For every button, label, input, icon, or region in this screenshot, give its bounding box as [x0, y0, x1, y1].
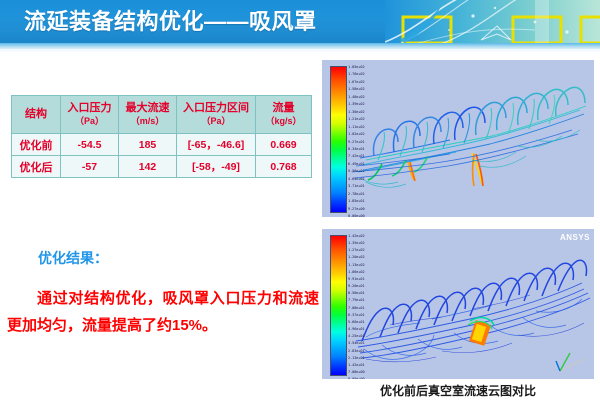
column-label: 流量 [273, 102, 295, 114]
colorbar-tick-label: 1.42e+02 [348, 233, 365, 240]
slide-header-banner: 流延装备结构优化——吸风罩 [0, 0, 600, 43]
axis-triad-icon [554, 349, 588, 375]
column-label: 入口压力区间 [183, 102, 249, 114]
cell-structure: 优化后 [12, 156, 61, 178]
colorbar-tick-label: 6.37e+01 [348, 312, 365, 319]
cfd-figure-before: 1.85e+021.76e+021.67e+021.58e+021.48e+02… [322, 60, 594, 217]
column-header-structure: 结构 [12, 96, 61, 134]
colorbar-tick-label: 2.13e+01 [348, 355, 365, 362]
table-row: 优化后 -57 142 [-58，-49] 0.768 [12, 156, 312, 178]
colorbar-tick-label: 5.66e+01 [348, 319, 365, 326]
header-underline-soft [0, 49, 600, 53]
colorbar-tick-label: 1.35e+02 [348, 240, 365, 247]
colorbar-tick-label: 1.85e+02 [348, 64, 365, 71]
cell-pressure-range: [-58，-49] [177, 156, 256, 178]
colorbar-tick-label: 7.42e+01 [348, 153, 365, 160]
column-unit: （Pa） [177, 115, 255, 127]
colorbar-tick-label: 1.42e+01 [348, 362, 365, 369]
table-header-row: 结构 入口压力 （Pa） 最大流速 （m/s） 入口压力区间 （Pa） 流量 （… [12, 96, 312, 134]
cell-max-velocity: 142 [119, 156, 177, 178]
results-table: 结构 入口压力 （Pa） 最大流速 （m/s） 入口压力区间 （Pa） 流量 （… [11, 95, 312, 178]
colorbar-tick-label: 2.78e+01 [348, 191, 365, 198]
colorbar-tick-label: 7.79e+01 [348, 297, 365, 304]
colorbar-tick-label: 1.13e+02 [348, 262, 365, 269]
colorbar-tick-label: 0.00e+00 [348, 376, 365, 379]
colorbar-tick-label: 8.34e+01 [348, 146, 365, 153]
colorbar-tick-label: 9.20e+01 [348, 283, 365, 290]
colorbar-tick-label: 7.08e+01 [348, 305, 365, 312]
colorbar-tick-label: 2.83e+01 [348, 348, 365, 355]
column-header-inlet-pressure: 入口压力 （Pa） [61, 96, 119, 134]
colorbar-tick-label: 1.67e+02 [348, 79, 365, 86]
column-header-flow-rate: 流量 （kg/s） [256, 96, 312, 134]
colorbar-tick-label: 9.27e+00 [348, 206, 365, 213]
result-paragraph: 通过对结构优化，吸风罩入口压力和流速更加均匀，流量提高了约15%。 [7, 285, 319, 339]
page-title: 流延装备结构优化——吸风罩 [24, 7, 317, 36]
column-label: 最大流速 [126, 102, 170, 114]
cell-pressure-range: [-65，-46.6] [177, 134, 256, 156]
colorbar-tick-label: 1.76e+02 [348, 71, 365, 78]
cell-flow-rate: 0.669 [256, 134, 312, 156]
column-header-max-velocity: 最大流速 （m/s） [119, 96, 177, 134]
colorbar-tick-label: 1.21e+02 [348, 116, 365, 123]
colorbar-after [330, 235, 347, 376]
cell-inlet-pressure: -57 [61, 156, 119, 178]
colorbar-tick-label: 4.64e+01 [348, 176, 365, 183]
column-unit: （kg/s） [256, 115, 311, 127]
colorbar-tick-label: 0.00e+00 [348, 213, 365, 217]
cell-flow-rate: 0.768 [256, 156, 312, 178]
cell-structure: 优化前 [12, 134, 61, 156]
colorbar-labels-before: 1.85e+021.76e+021.67e+021.58e+021.48e+02… [348, 64, 365, 217]
colorbar-tick-label: 1.02e+02 [348, 131, 365, 138]
colorbar-tick-label: 1.58e+02 [348, 86, 365, 93]
colorbar-tick-label: 3.54e+01 [348, 340, 365, 347]
colorbar-tick-label: 3.71e+01 [348, 183, 365, 190]
colorbar-tick-label: 4.25e+01 [348, 333, 365, 340]
table-row: 优化前 -54.5 185 [-65，-46.6] 0.669 [12, 134, 312, 156]
colorbar-tick-label: 1.85e+01 [348, 198, 365, 205]
ansys-watermark: ANSYS [560, 233, 590, 242]
cfd-figure-after: 1.42e+021.35e+021.27e+021.20e+021.13e+02… [322, 229, 594, 379]
column-label: 结构 [25, 108, 47, 120]
colorbar-labels-after: 1.42e+021.35e+021.27e+021.20e+021.13e+02… [348, 233, 365, 379]
colorbar-tick-label: 1.48e+02 [348, 94, 365, 101]
cell-inlet-pressure: -54.5 [61, 134, 119, 156]
colorbar-tick-label: 1.30e+02 [348, 109, 365, 116]
colorbar-tick-label: 1.11e+02 [348, 124, 365, 131]
colorbar-tick-label: 7.08e+00 [348, 369, 365, 376]
header-decoration [385, 0, 600, 43]
colorbar-tick-label: 1.27e+02 [348, 247, 365, 254]
colorbar-tick-label: 8.50e+01 [348, 290, 365, 297]
figure-caption: 优化前后真空室流速云图对比 [322, 383, 594, 399]
colorbar-tick-label: 1.20e+02 [348, 254, 365, 261]
colorbar-tick-label: 6.49e+01 [348, 161, 365, 168]
column-unit: （m/s） [119, 115, 176, 127]
result-heading: 优化结果： [38, 249, 108, 267]
colorbar-tick-label: 1.06e+02 [348, 269, 365, 276]
colorbar-tick-label: 9.27e+01 [348, 139, 365, 146]
colorbar-tick-label: 1.39e+02 [348, 101, 365, 108]
colorbar-before [330, 66, 347, 213]
column-label: 入口压力 [68, 102, 112, 114]
column-unit: （Pa） [61, 115, 118, 127]
colorbar-tick-label: 5.56e+01 [348, 168, 365, 175]
column-header-pressure-range: 入口压力区间 （Pa） [177, 96, 256, 134]
colorbar-tick-label: 4.96e+01 [348, 326, 365, 333]
cell-max-velocity: 185 [119, 134, 177, 156]
colorbar-tick-label: 9.91e+01 [348, 276, 365, 283]
